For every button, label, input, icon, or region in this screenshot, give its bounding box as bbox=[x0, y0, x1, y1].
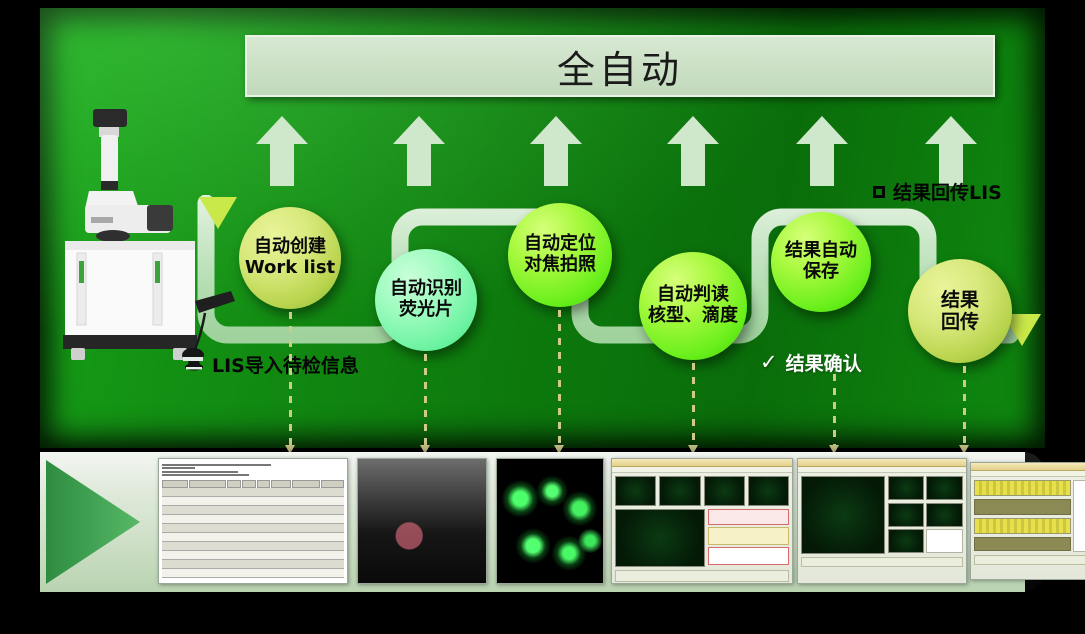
connector-3 bbox=[558, 310, 561, 447]
check-icon: ✓ bbox=[760, 352, 778, 373]
node-auto-save[interactable]: 结果自动 保存 bbox=[771, 212, 871, 312]
connector-2 bbox=[424, 354, 427, 447]
node-auto-focus-capture[interactable]: 自动定位 对焦拍照 bbox=[508, 203, 612, 307]
shot-capture-software[interactable] bbox=[611, 458, 793, 584]
up-arrow-4 bbox=[667, 116, 719, 186]
title-banner: 全自动 bbox=[245, 35, 995, 97]
page-title: 全自动 bbox=[557, 39, 683, 94]
caption-label: 结果回传LIS bbox=[893, 178, 1002, 205]
shot-fluorescent-cells[interactable] bbox=[496, 458, 604, 584]
up-arrow-2 bbox=[393, 116, 445, 186]
node-line-2: 保存 bbox=[803, 262, 839, 283]
node-line-1: 结果自动 bbox=[785, 241, 857, 262]
up-arrow-5 bbox=[796, 116, 848, 186]
node-line-2: Work list bbox=[245, 258, 335, 279]
node-line-1: 自动识别 bbox=[390, 279, 462, 300]
connector-5 bbox=[833, 374, 836, 447]
node-line-1: 自动定位 bbox=[524, 234, 596, 255]
node-line-2: 核型、滴度 bbox=[648, 306, 738, 327]
caption-result-to-lis: 结果回传LIS bbox=[873, 178, 1002, 205]
node-auto-interpret[interactable]: 自动判读 核型、滴度 bbox=[639, 252, 747, 360]
up-arrow-3 bbox=[530, 116, 582, 186]
node-line-1: 自动判读 bbox=[657, 285, 729, 306]
screenshot-filmstrip bbox=[40, 452, 1045, 592]
instrument-photo bbox=[55, 105, 255, 370]
connector-1 bbox=[289, 312, 292, 447]
film-arrow-icon bbox=[46, 460, 140, 584]
shot-microscope-stage[interactable] bbox=[357, 458, 487, 584]
node-line-2: 回传 bbox=[941, 311, 979, 333]
node-line-2: 荧光片 bbox=[399, 300, 453, 321]
shot-report-software[interactable] bbox=[970, 462, 1085, 580]
node-recognize-slide[interactable]: 自动识别 荧光片 bbox=[375, 249, 477, 351]
shot-worklist-table[interactable] bbox=[158, 458, 348, 584]
up-arrow-6 bbox=[925, 116, 977, 186]
slide-canvas: 全自动 自动创建 W bbox=[0, 0, 1085, 634]
node-result-return[interactable]: 结果 回传 bbox=[908, 259, 1012, 363]
shot-review-software[interactable] bbox=[797, 458, 967, 584]
filmstrip-arrow-cell bbox=[40, 452, 148, 592]
up-arrow-1 bbox=[256, 116, 308, 186]
caption-result-confirm: ✓ 结果确认 bbox=[760, 349, 862, 376]
node-line-1: 结果 bbox=[941, 289, 979, 311]
square-icon bbox=[873, 186, 885, 198]
caption-label: 结果确认 bbox=[786, 349, 862, 376]
connector-6 bbox=[963, 366, 966, 447]
node-line-2: 对焦拍照 bbox=[524, 255, 596, 276]
connector-4 bbox=[692, 363, 695, 447]
node-line-1: 自动创建 bbox=[254, 237, 326, 258]
